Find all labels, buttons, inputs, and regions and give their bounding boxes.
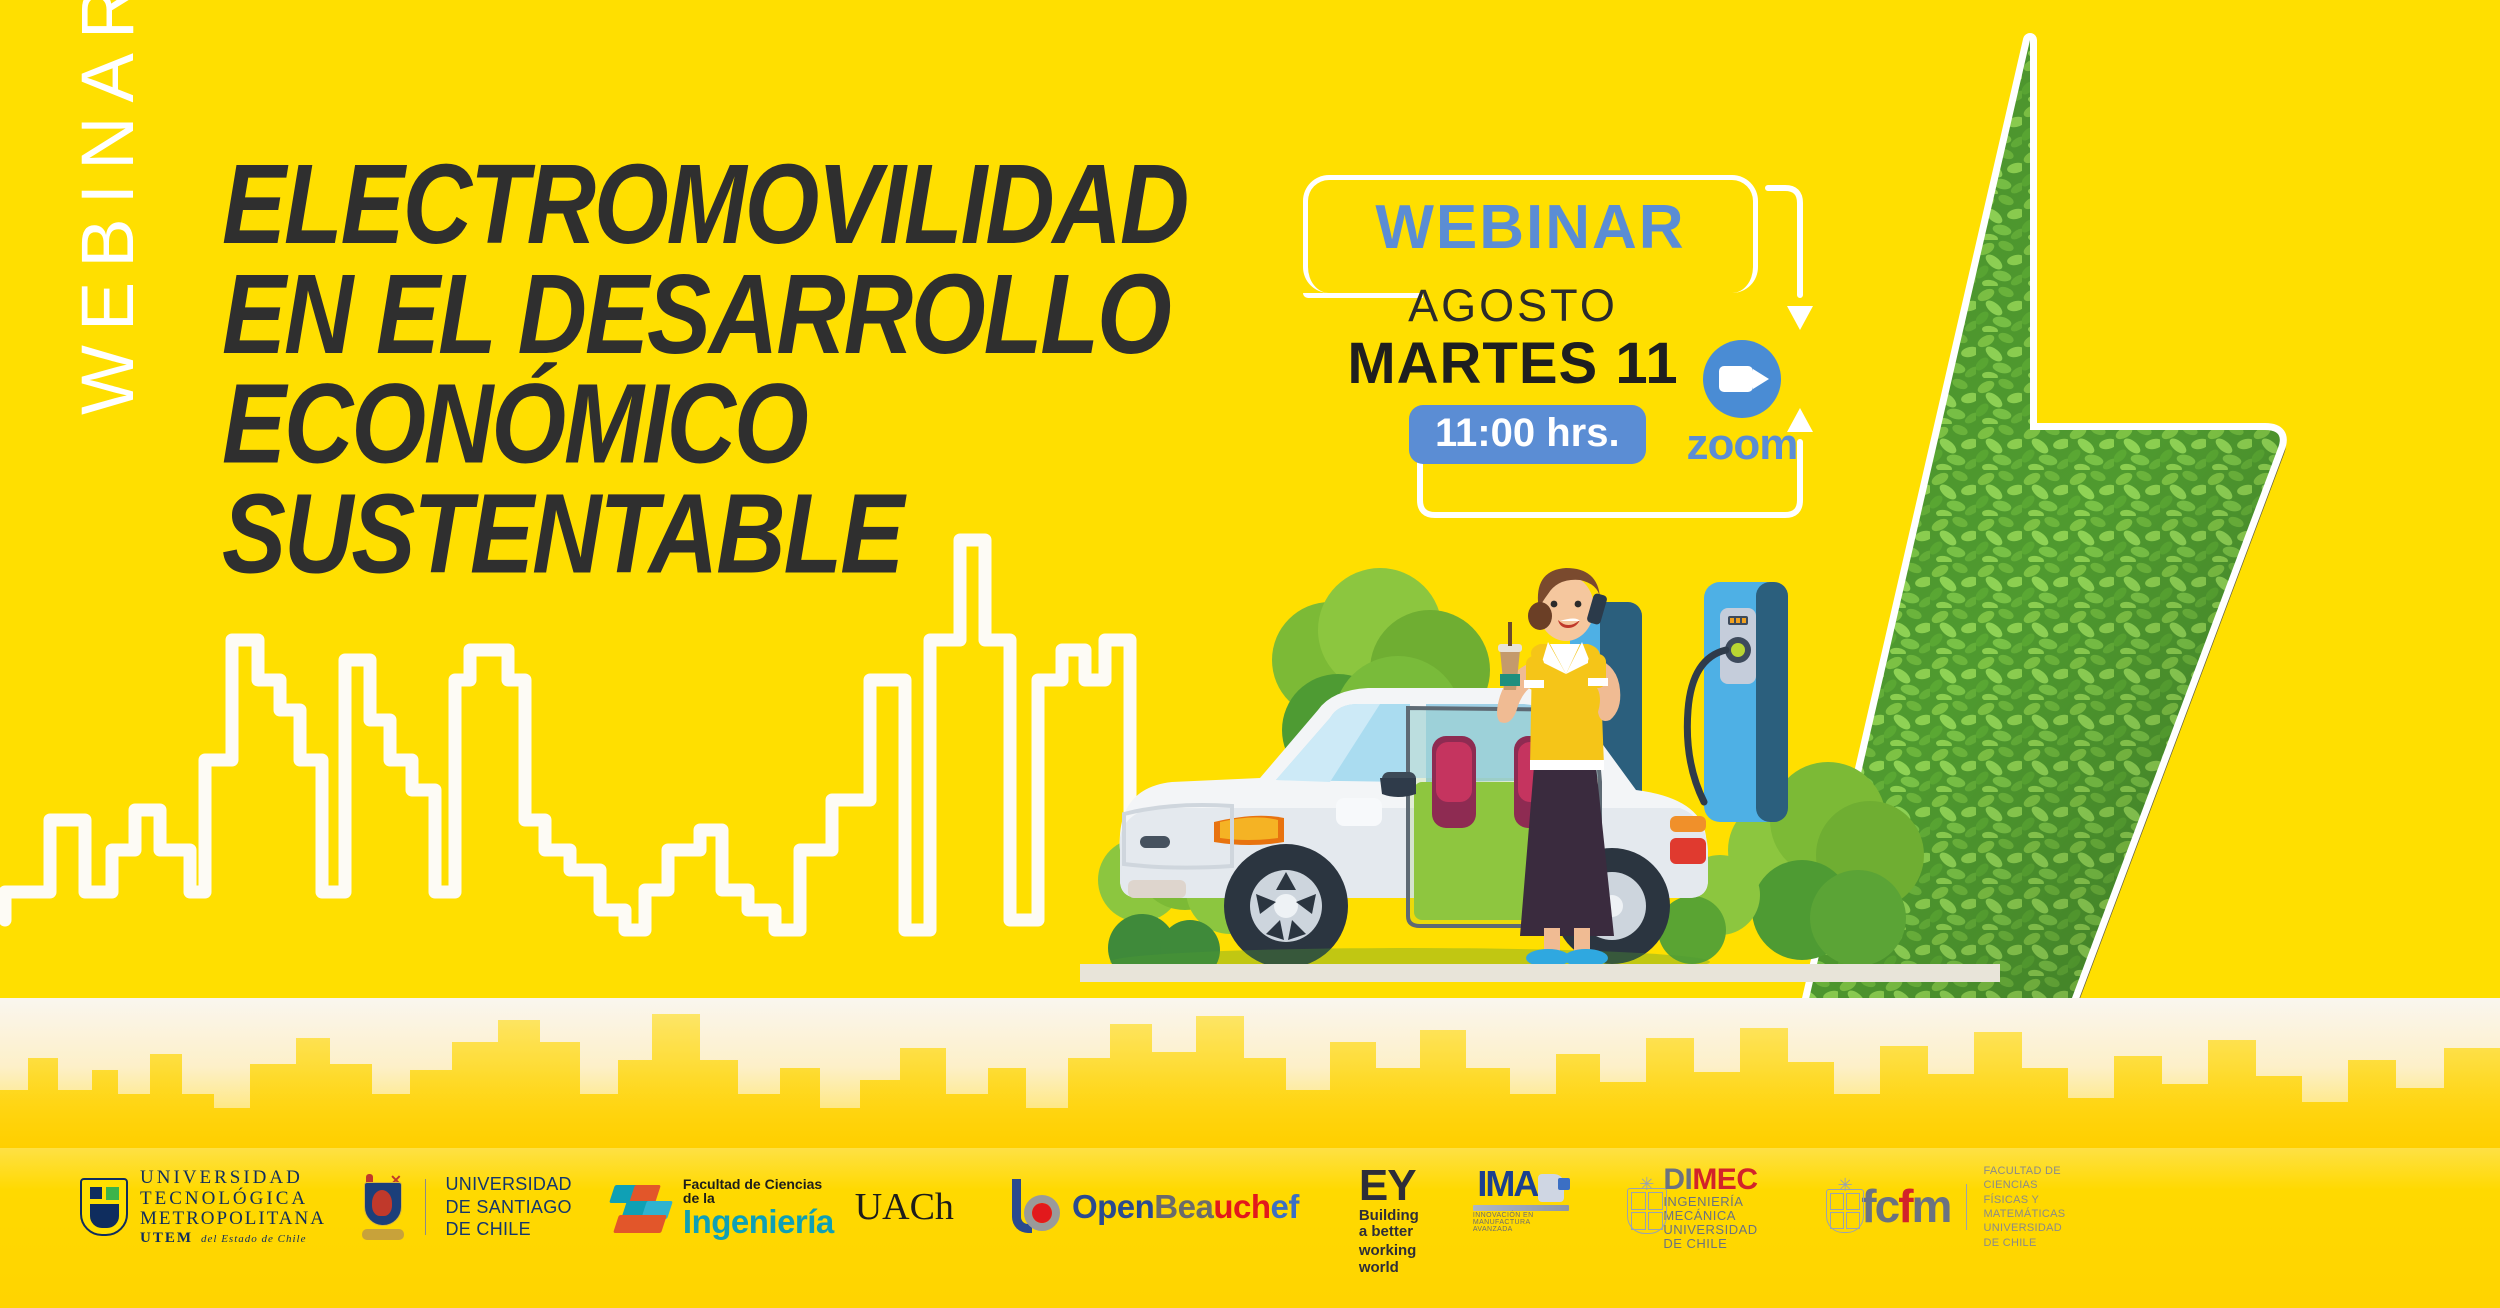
title-line-1: ELECTROMOVILIDAD bbox=[222, 150, 1352, 260]
usach-line-2: DE SANTIAGO bbox=[445, 1196, 571, 1219]
ev-charging-illustration bbox=[1080, 550, 2000, 1030]
title-line-3: ECONÓMICO bbox=[222, 370, 1352, 480]
uach-acronym: UACh bbox=[855, 1188, 954, 1226]
ey-acronym: EY bbox=[1359, 1166, 1416, 1206]
fcfm-part-2: f bbox=[1898, 1180, 1911, 1232]
title-line-2: EN EL DESARROLLO bbox=[222, 260, 1352, 370]
obc-part-2: Bea bbox=[1154, 1188, 1213, 1225]
logo-openbeauchef: OpenBeauchef bbox=[1010, 1166, 1299, 1248]
openbeauchef-mark-icon bbox=[1010, 1179, 1062, 1235]
utem-acronym: UTEM bbox=[140, 1230, 193, 1246]
uach-chevron-icon bbox=[612, 1181, 675, 1233]
utem-line-1: UNIVERSIDAD bbox=[140, 1168, 326, 1189]
utem-tagline: del Estado de Chile bbox=[201, 1234, 306, 1246]
uach-line-1: Facultad de Ciencias de la bbox=[683, 1177, 841, 1205]
day-label: MARTES 11 bbox=[1303, 330, 1723, 397]
utem-line-3: METROPOLITANA bbox=[140, 1209, 326, 1230]
usach-line-1: UNIVERSIDAD bbox=[445, 1173, 571, 1196]
bottom-band bbox=[0, 998, 2500, 1308]
dimec-line-2: UNIVERSIDAD DE CHILE bbox=[1663, 1223, 1773, 1251]
dimec-crest-icon: ✳ bbox=[1623, 1176, 1655, 1238]
dimec-line-1: INGENIERÍA MECÁNICA bbox=[1663, 1195, 1773, 1223]
obc-part-3: uch bbox=[1213, 1188, 1270, 1225]
logo-uach: Facultad de Ciencias de la Ingeniería UA… bbox=[612, 1166, 954, 1248]
fcfm-line-1: FACULTAD DE CIENCIAS bbox=[1983, 1164, 2079, 1193]
logo-ima: IMA INNOVACIÓN EN MANUFACTURA AVANZADA bbox=[1473, 1166, 1569, 1248]
time-badge: 11:00 hrs. bbox=[1409, 405, 1646, 464]
logo-usach: ✕ UNIVERSIDAD DE SANTIAGO DE CHILE bbox=[360, 1166, 572, 1248]
sponsor-logos: UNIVERSIDAD TECNOLÓGICA METROPOLITANA UT… bbox=[0, 1161, 1900, 1253]
logo-ey: EY Building a better working world bbox=[1359, 1166, 1419, 1248]
utem-line-2: TECNOLÓGICA bbox=[140, 1189, 326, 1210]
fcfm-line-3: UNIVERSIDAD DE CHILE bbox=[1983, 1221, 2079, 1250]
fcfm-part-3: m bbox=[1912, 1180, 1951, 1232]
ey-line-1: Building a better bbox=[1359, 1208, 1419, 1242]
logo-dimec: ✳ DIMEC INGENIERÍA MECÁNICA UNIVERSIDAD … bbox=[1623, 1166, 1773, 1248]
month-label: AGOSTO bbox=[1303, 280, 1723, 332]
usach-crest-icon: ✕ bbox=[360, 1174, 406, 1240]
webinar-badge: WEBINAR bbox=[1303, 192, 1758, 263]
dimec-part-1: DI bbox=[1663, 1163, 1692, 1196]
obc-part-1: Open bbox=[1072, 1188, 1154, 1225]
uach-line-2: Ingeniería bbox=[683, 1205, 841, 1238]
dimec-part-2: MEC bbox=[1692, 1163, 1757, 1196]
ima-acronym: IMA bbox=[1477, 1166, 1537, 1202]
webinar-poster: WEBINAR ELECTROMOVILIDAD EN EL DESARROLL… bbox=[0, 0, 2500, 1308]
fcfm-part-1: fc bbox=[1861, 1180, 1898, 1232]
page-title: ELECTROMOVILIDAD EN EL DESARROLLO ECONÓM… bbox=[222, 150, 1352, 589]
logo-fcfm: ✳ fcfm FACULTAD DE CIENCIAS FÍSICAS Y MA… bbox=[1823, 1166, 2080, 1248]
vertical-webinar-label: WEBINAR bbox=[63, 55, 153, 415]
city-skyline-outline bbox=[0, 520, 1200, 1040]
ima-robot-arm-icon bbox=[1538, 1174, 1564, 1202]
usach-line-3: DE CHILE bbox=[445, 1218, 571, 1241]
ev-charging-station-icon bbox=[1687, 582, 1788, 822]
fcfm-line-2: FÍSICAS Y MATEMÁTICAS bbox=[1983, 1193, 2079, 1222]
logo-utem: UNIVERSIDAD TECNOLÓGICA METROPOLITANA UT… bbox=[80, 1166, 326, 1248]
city-skyline-silhouette bbox=[0, 998, 2500, 1148]
utem-shield-icon bbox=[80, 1178, 128, 1236]
fcfm-crest-icon: ✳ bbox=[1823, 1177, 1853, 1237]
ima-tagline: INNOVACIÓN EN MANUFACTURA AVANZADA bbox=[1473, 1212, 1569, 1233]
ey-line-2: working world bbox=[1359, 1243, 1419, 1277]
obc-part-4: ef bbox=[1271, 1188, 1299, 1225]
